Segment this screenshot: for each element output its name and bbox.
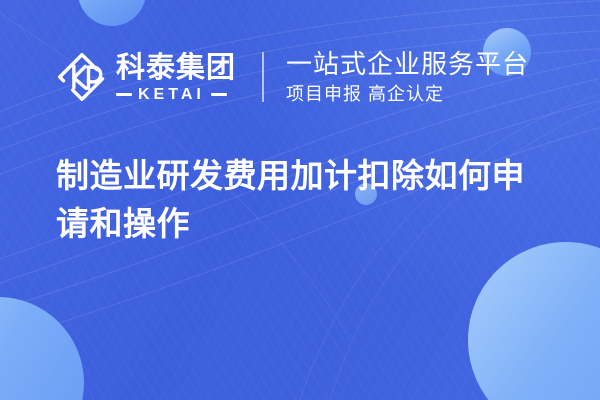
company-name-en-row: KETAI — [116, 87, 236, 103]
company-name-cn: 科泰集团 — [116, 52, 236, 84]
company-name-en: KETAI — [138, 87, 205, 103]
page-title: 制造业研发费用加计扣除如何申请和操作 — [56, 152, 556, 248]
slogan-block: 一站式企业服务平台 项目申报 高企认定 — [286, 49, 529, 105]
slogan-main: 一站式企业服务平台 — [286, 49, 529, 79]
ketai-diamond-kd-logo-icon — [56, 51, 108, 103]
logo-wordmark: 科泰集团 KETAI — [116, 52, 236, 103]
banner-header: 科泰集团 KETAI 一站式企业服务平台 项目申报 高企认定 — [56, 46, 529, 108]
promo-banner: 科泰集团 KETAI 一站式企业服务平台 项目申报 高企认定 制造业研发费用加计… — [0, 0, 600, 400]
header-divider — [262, 52, 264, 102]
dash-right-icon — [211, 93, 227, 96]
dash-left-icon — [116, 93, 132, 96]
slogan-sub: 项目申报 高企认定 — [286, 83, 529, 105]
